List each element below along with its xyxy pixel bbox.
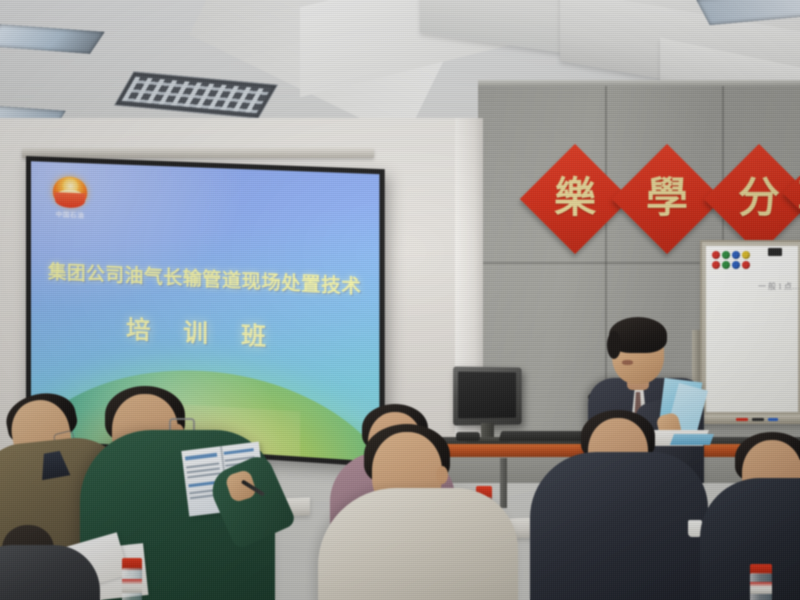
whiteboard-magnets[interactable] (712, 251, 754, 273)
whiteboard-surface[interactable]: 一 般 1 点… (706, 246, 798, 412)
banner-character: 學 (628, 160, 706, 238)
marker-icon[interactable] (752, 418, 764, 421)
presenter-hair (609, 317, 667, 353)
ceiling-light-icon (0, 24, 105, 54)
magnet-icon[interactable] (742, 251, 750, 259)
projection-screen: 中国石油 集团公司油气长输管道现场处置技术 培 训 班 (26, 156, 385, 467)
magnet-icon[interactable] (722, 261, 730, 269)
person-torso (530, 452, 708, 600)
magnet-icon[interactable] (732, 261, 740, 269)
magnet-icon[interactable] (712, 261, 720, 269)
blue-folder[interactable] (670, 434, 714, 445)
ceiling-light-grille-icon (114, 71, 278, 118)
logo-base-icon (55, 192, 85, 208)
lcd-monitor[interactable] (453, 366, 521, 425)
presenter-mouth (622, 360, 633, 365)
whiteboard-writing: 一 般 1 点… (758, 282, 800, 291)
whiteboard-clip-icon[interactable] (768, 248, 782, 256)
bottle-label (122, 579, 142, 593)
magnet-icon[interactable] (712, 251, 720, 259)
banner-character: 享 (789, 160, 800, 238)
water-bottle[interactable] (750, 564, 772, 600)
bottle-label (750, 582, 772, 594)
magnet-icon[interactable] (722, 251, 730, 259)
banner-character: 樂 (536, 160, 614, 238)
whiteboard[interactable]: 一 般 1 点… (700, 240, 800, 424)
magnet-icon[interactable] (742, 261, 750, 269)
banner-character: 分 (720, 160, 798, 238)
presentation-slide: 中国石油 集团公司油气长输管道现场处置技术 培 训 班 (31, 161, 379, 462)
magnet-icon[interactable] (732, 251, 740, 259)
whiteboard-marker-tray (704, 415, 800, 422)
water-bottle[interactable] (122, 558, 142, 600)
marker-icon[interactable] (768, 418, 778, 421)
logo-wordmark: 中国石油 (51, 208, 89, 220)
microphone-base[interactable] (456, 432, 480, 441)
marker-icon[interactable] (736, 418, 748, 421)
desk-leg (500, 458, 507, 508)
booklet-heading-band (185, 453, 217, 461)
monitor-screen[interactable] (458, 372, 516, 419)
slide-subtitle: 培 训 班 (31, 304, 379, 358)
petrochina-logo: 中国石油 (53, 176, 87, 218)
projector-screen-housing (22, 148, 374, 158)
conference-room-photo: 樂 學 分 享 一 般 1 点… (0, 0, 800, 600)
person-torso (318, 488, 518, 600)
person-ear (436, 466, 448, 484)
booklet-heading-band (224, 448, 254, 455)
